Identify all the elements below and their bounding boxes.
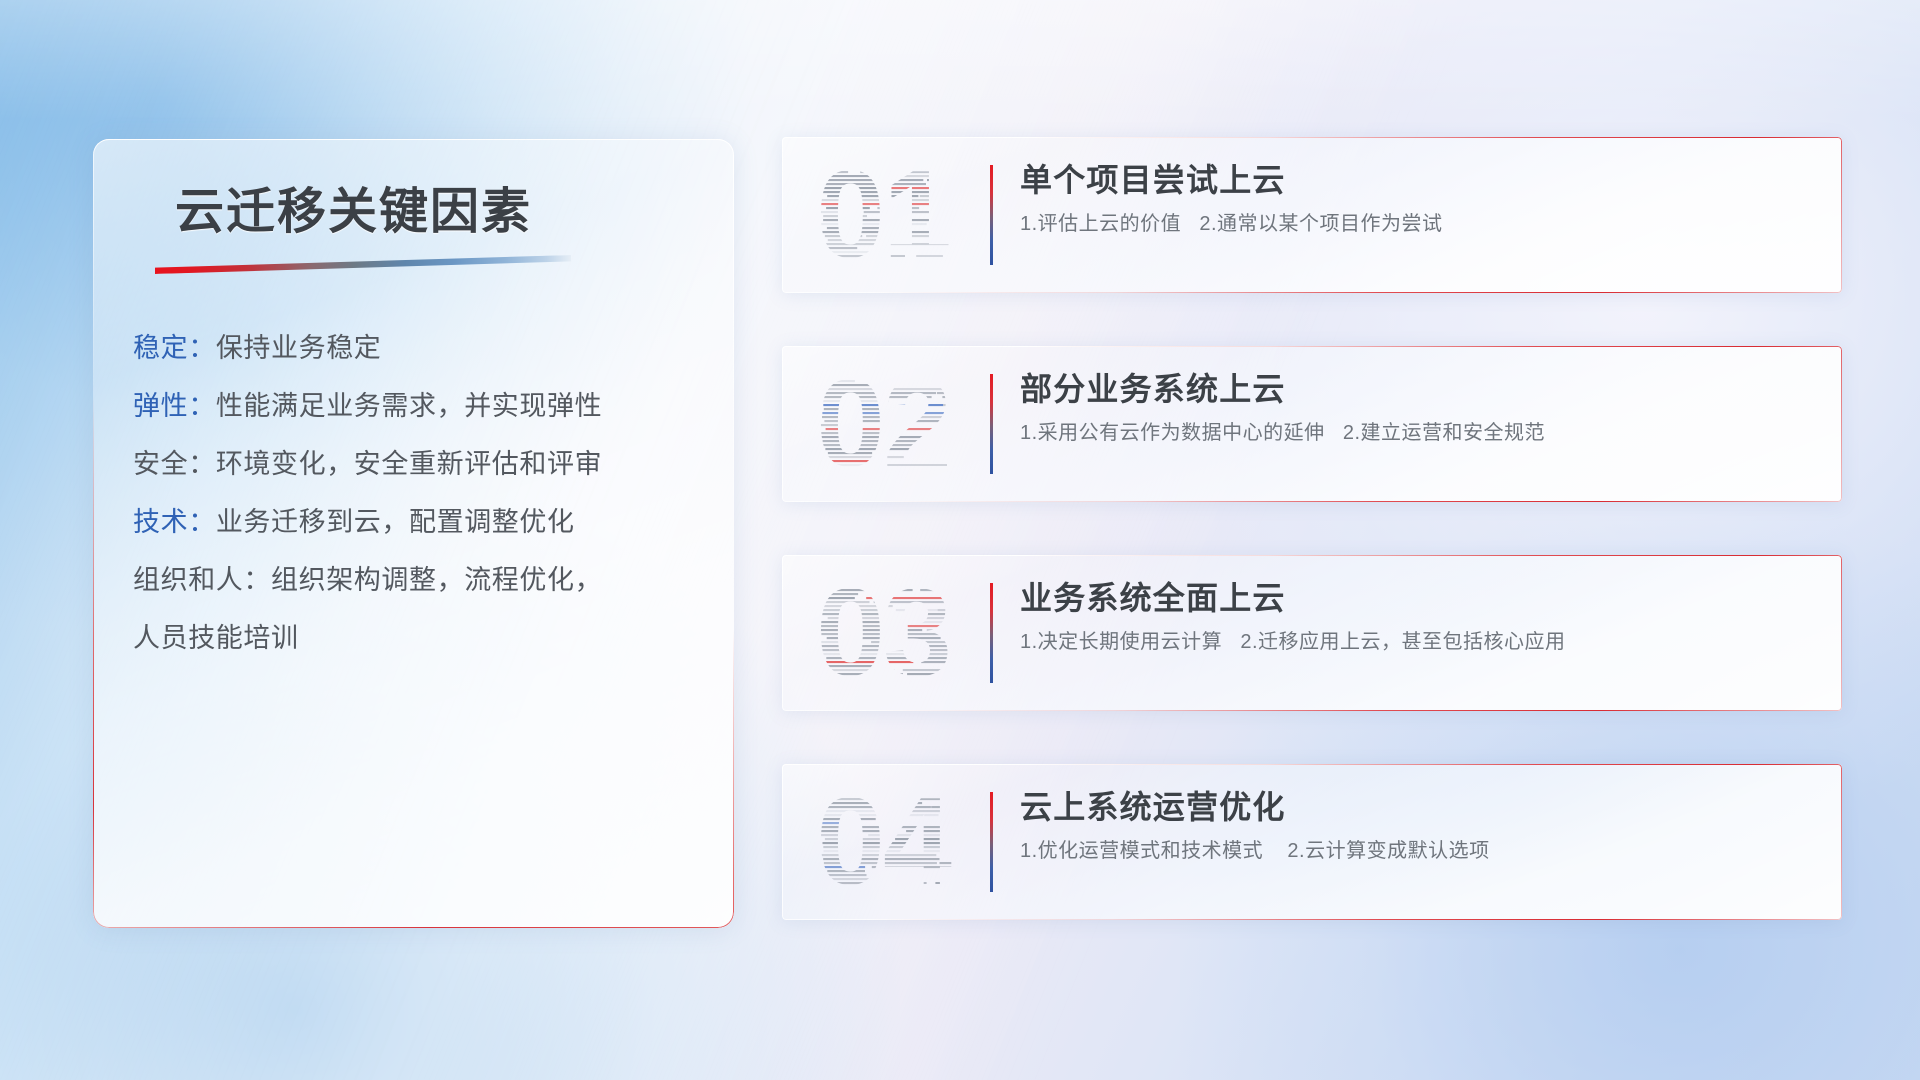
card-accent-divider xyxy=(990,583,993,683)
stage-number-watermark: 01 xyxy=(814,151,964,279)
card-body: 业务系统全面上云1.决定长期使用云计算 2.迁移应用上云，甚至包括核心应用 xyxy=(1020,581,1818,654)
stage-card[interactable]: 03业务系统全面上云1.决定长期使用云计算 2.迁移应用上云，甚至包括核心应用 xyxy=(782,555,1842,711)
title-accent-rule xyxy=(155,255,571,274)
card-subtitle: 1.决定长期使用云计算 2.迁移应用上云，甚至包括核心应用 xyxy=(1020,630,1818,654)
stage-card[interactable]: 02部分业务系统上云1.采用公有云作为数据中心的延伸 2.建立运营和安全规范 xyxy=(782,346,1842,502)
factor-row: 组织和人：组织架构调整，流程优化， xyxy=(133,567,693,594)
stage-card[interactable]: 01单个项目尝试上云1.评估上云的价值 2.通常以某个项目作为尝试 xyxy=(782,137,1842,293)
card-accent-divider xyxy=(990,374,993,474)
factor-label: 组织和人： xyxy=(133,565,271,595)
factor-row: 技术：业务迁移到云，配置调整优化 xyxy=(133,509,693,536)
stage-card[interactable]: 04云上系统运营优化1.优化运营模式和技术模式 2.云计算变成默认选项 xyxy=(782,764,1842,920)
factor-label: 安全： xyxy=(133,449,216,479)
factor-row: 弹性：性能满足业务需求，并实现弹性 xyxy=(133,393,693,420)
card-title: 单个项目尝试上云 xyxy=(1020,163,1818,198)
factor-value: 组织架构调整，流程优化， xyxy=(271,565,602,595)
card-subtitle: 1.优化运营模式和技术模式 2.云计算变成默认选项 xyxy=(1020,839,1818,863)
factor-list: 稳定：保持业务稳定弹性：性能满足业务需求，并实现弹性安全：环境变化，安全重新评估… xyxy=(133,335,693,652)
card-accent-divider xyxy=(990,792,993,892)
card-accent-divider xyxy=(990,165,993,265)
card-body: 云上系统运营优化1.优化运营模式和技术模式 2.云计算变成默认选项 xyxy=(1020,790,1818,863)
card-subtitle: 1.评估上云的价值 2.通常以某个项目作为尝试 xyxy=(1020,212,1818,236)
factor-value: 环境变化，安全重新评估和评审 xyxy=(216,449,602,479)
card-subtitle: 1.采用公有云作为数据中心的延伸 2.建立运营和安全规范 xyxy=(1020,421,1818,445)
panel-title: 云迁移关键因素 xyxy=(175,172,532,243)
card-title: 部分业务系统上云 xyxy=(1020,372,1818,407)
factor-label: 稳定： xyxy=(133,333,216,363)
card-title: 业务系统全面上云 xyxy=(1020,581,1818,616)
key-factors-panel: 云迁移关键因素 稳定：保持业务稳定弹性：性能满足业务需求，并实现弹性安全：环境变… xyxy=(93,139,734,928)
factor-value: 保持业务稳定 xyxy=(216,333,382,363)
stage-number-watermark: 04 xyxy=(814,778,964,906)
stage-card-list: 01单个项目尝试上云1.评估上云的价值 2.通常以某个项目作为尝试02部分业务系… xyxy=(782,137,1842,920)
factor-label: 弹性： xyxy=(133,391,216,421)
factor-value: 性能满足业务需求，并实现弹性 xyxy=(216,391,602,421)
factor-value: 业务迁移到云，配置调整优化 xyxy=(216,507,575,537)
slide-stage: 云迁移关键因素 稳定：保持业务稳定弹性：性能满足业务需求，并实现弹性安全：环境变… xyxy=(0,0,1920,1080)
stage-number-watermark: 03 xyxy=(814,569,964,697)
stage-number-watermark: 02 xyxy=(814,360,964,488)
factor-value: 人员技能培训 xyxy=(133,623,299,653)
card-body: 部分业务系统上云1.采用公有云作为数据中心的延伸 2.建立运营和安全规范 xyxy=(1020,372,1818,445)
card-title: 云上系统运营优化 xyxy=(1020,790,1818,825)
factor-label: 技术： xyxy=(133,507,216,537)
factor-row: 稳定：保持业务稳定 xyxy=(133,335,693,362)
factor-row: 安全：环境变化，安全重新评估和评审 xyxy=(133,451,693,478)
factor-row: 人员技能培训 xyxy=(133,625,693,652)
card-body: 单个项目尝试上云1.评估上云的价值 2.通常以某个项目作为尝试 xyxy=(1020,163,1818,236)
